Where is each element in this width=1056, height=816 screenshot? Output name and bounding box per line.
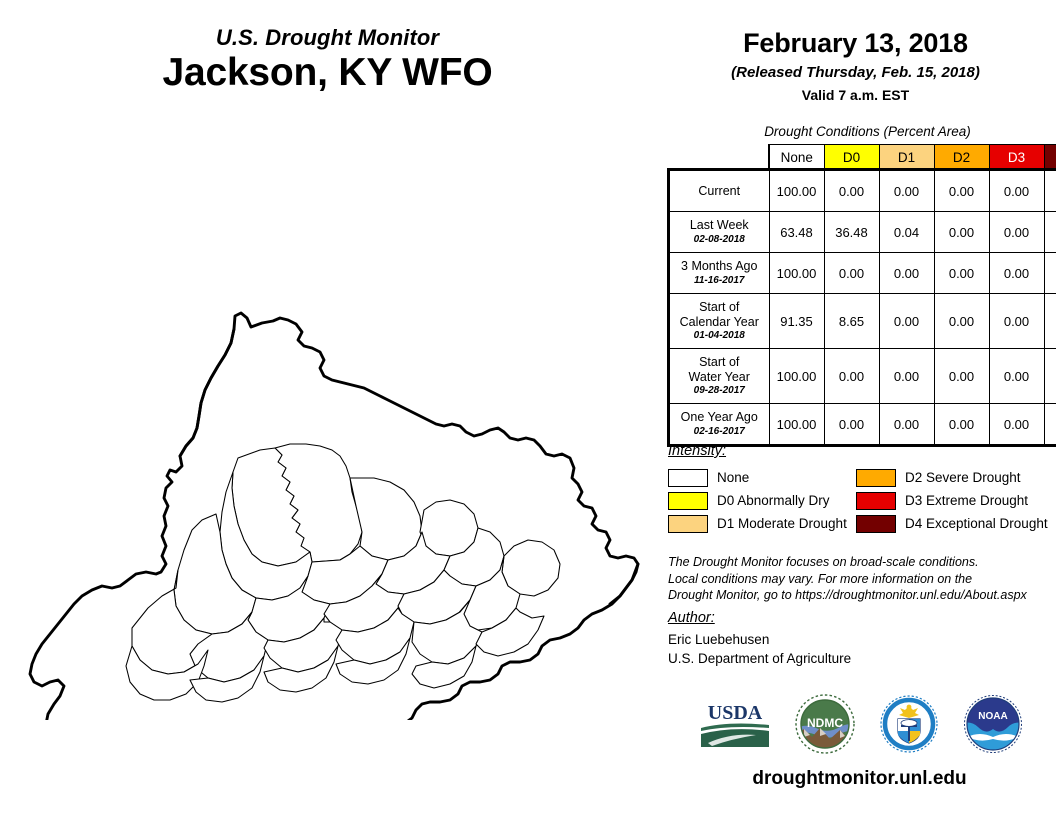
cell-d4: 0.00 bbox=[1044, 170, 1056, 212]
table-row: One Year Ago 02-16-2017 100.00 0.00 0.00… bbox=[669, 404, 1056, 446]
cell-d4: 0.00 bbox=[1044, 349, 1056, 404]
site-url[interactable]: droughtmonitor.unl.edu bbox=[655, 768, 1056, 790]
cell-d0: 0.00 bbox=[824, 170, 879, 212]
table-header-row: None D0 D1 D2 D3 D4 bbox=[669, 145, 1056, 171]
cell-d1: 0.00 bbox=[879, 404, 934, 446]
row-label-one-year-ago: One Year Ago 02-16-2017 bbox=[669, 404, 769, 446]
usda-logo[interactable]: USDA bbox=[698, 698, 772, 755]
logo-row: USDA NDMC bbox=[655, 690, 1056, 762]
table-caption: Drought Conditions (Percent Area) bbox=[655, 124, 1056, 139]
title-block: U.S. Drought Monitor Jackson, KY WFO bbox=[0, 26, 655, 94]
table-corner-cell bbox=[669, 145, 769, 171]
cell-none: 91.35 bbox=[769, 294, 824, 349]
cell-none: 100.00 bbox=[769, 170, 824, 212]
cell-d0: 8.65 bbox=[824, 294, 879, 349]
info-panel: February 13, 2018 (Released Thursday, Fe… bbox=[655, 0, 1056, 816]
column-header-d0: D0 bbox=[824, 145, 879, 171]
cell-d2: 0.00 bbox=[934, 404, 989, 446]
row-label-start-of-calendar-year: Start of Calendar Year 01-04-2018 bbox=[669, 294, 769, 349]
cell-none: 100.00 bbox=[769, 349, 824, 404]
cell-d4: 0.00 bbox=[1044, 253, 1056, 294]
table-row: Start of Water Year 09-28-2017 100.00 0.… bbox=[669, 349, 1056, 404]
legend-item-none: None bbox=[668, 469, 856, 487]
cell-d0: 0.00 bbox=[824, 253, 879, 294]
disclaimer-line-3: Drought Monitor, go to https://droughtmo… bbox=[668, 587, 1053, 604]
legend-item-d2: D2 Severe Drought bbox=[856, 469, 1048, 487]
cell-d0: 0.00 bbox=[824, 349, 879, 404]
cell-d2: 0.00 bbox=[934, 212, 989, 253]
cell-d3: 0.00 bbox=[989, 170, 1044, 212]
swatch-d1-icon bbox=[668, 515, 708, 533]
ndmc-logo[interactable]: NDMC bbox=[794, 693, 856, 760]
table-header: None D0 D1 D2 D3 D4 bbox=[669, 145, 1056, 171]
column-header-d3: D3 bbox=[989, 145, 1044, 171]
cell-d1: 0.00 bbox=[879, 349, 934, 404]
row-label-text-line1: Start of bbox=[699, 355, 739, 369]
cell-d0: 36.48 bbox=[824, 212, 879, 253]
cell-d4: 0.00 bbox=[1044, 294, 1056, 349]
noaa-logo[interactable]: NOAA bbox=[962, 693, 1024, 760]
column-header-d2: D2 bbox=[934, 145, 989, 171]
cell-none: 100.00 bbox=[769, 404, 824, 446]
intensity-legend: Intensity: None D2 Severe Drought D0 Abn… bbox=[668, 443, 1048, 535]
noaa-logo-svg: NOAA bbox=[962, 693, 1024, 755]
cell-none: 100.00 bbox=[769, 253, 824, 294]
cell-d2: 0.00 bbox=[934, 349, 989, 404]
drought-conditions-table: None D0 D1 D2 D3 D4 Current 100.00 0.00 … bbox=[668, 144, 1056, 446]
row-label-date: 02-08-2018 bbox=[673, 234, 766, 246]
ndmc-logo-svg: NDMC bbox=[794, 693, 856, 755]
cell-d2: 0.00 bbox=[934, 253, 989, 294]
legend-item-d4: D4 Exceptional Drought bbox=[856, 515, 1048, 533]
disclaimer-text: The Drought Monitor focuses on broad-sca… bbox=[668, 554, 1053, 604]
table-row: Start of Calendar Year 01-04-2018 91.35 … bbox=[669, 294, 1056, 349]
cell-d1: 0.00 bbox=[879, 253, 934, 294]
row-label-text-line2: Water Year bbox=[689, 370, 750, 384]
row-label-text: Current bbox=[698, 184, 740, 198]
cell-d1: 0.04 bbox=[879, 212, 934, 253]
swatch-none-icon bbox=[668, 469, 708, 487]
valid-time: Valid 7 a.m. EST bbox=[655, 87, 1056, 103]
cell-d3: 0.00 bbox=[989, 404, 1044, 446]
table-row: Last Week 02-08-2018 63.48 36.48 0.04 0.… bbox=[669, 212, 1056, 253]
cell-d2: 0.00 bbox=[934, 294, 989, 349]
intensity-legend-grid: None D2 Severe Drought D0 Abnormally Dry… bbox=[668, 466, 1048, 535]
author-affiliation: U.S. Department of Agriculture bbox=[668, 649, 1053, 668]
usda-logo-text: USDA bbox=[707, 702, 762, 724]
column-header-d1: D1 bbox=[879, 145, 934, 171]
row-label-text: One Year Ago bbox=[681, 410, 758, 424]
row-label-3-months-ago: 3 Months Ago 11-16-2017 bbox=[669, 253, 769, 294]
doc-seal-logo[interactable] bbox=[878, 693, 940, 760]
legend-label-none: None bbox=[717, 470, 749, 485]
legend-label-d2: D2 Severe Drought bbox=[905, 470, 1021, 485]
report-date: February 13, 2018 bbox=[655, 28, 1056, 59]
row-label-text-line1: Start of bbox=[699, 300, 739, 314]
row-label-date: 01-04-2018 bbox=[673, 330, 766, 342]
cell-d3: 0.00 bbox=[989, 212, 1044, 253]
doc-seal-logo-svg bbox=[878, 693, 940, 755]
row-label-date: 09-28-2017 bbox=[673, 385, 766, 397]
author-title: Author: bbox=[668, 610, 1053, 626]
release-date: (Released Thursday, Feb. 15, 2018) bbox=[655, 64, 1056, 81]
legend-label-d0: D0 Abnormally Dry bbox=[717, 493, 830, 508]
ndmc-logo-text: NDMC bbox=[807, 716, 843, 730]
map-svg bbox=[20, 210, 640, 720]
row-label-text-line2: Calendar Year bbox=[680, 315, 759, 329]
row-label-text: 3 Months Ago bbox=[681, 259, 757, 273]
map-panel: U.S. Drought Monitor Jackson, KY WFO bbox=[0, 0, 655, 816]
cell-d1: 0.00 bbox=[879, 170, 934, 212]
cell-d3: 0.00 bbox=[989, 253, 1044, 294]
row-label-text: Last Week bbox=[690, 218, 749, 232]
swatch-d3-icon bbox=[856, 492, 896, 510]
legend-item-d3: D3 Extreme Drought bbox=[856, 492, 1048, 510]
drought-map[interactable] bbox=[20, 210, 640, 720]
disclaimer-line-2: Local conditions may vary. For more info… bbox=[668, 571, 1053, 588]
swatch-d2-icon bbox=[856, 469, 896, 487]
row-label-date: 02-16-2017 bbox=[673, 426, 766, 438]
cell-d4: 0.00 bbox=[1044, 212, 1056, 253]
date-block: February 13, 2018 (Released Thursday, Fe… bbox=[655, 28, 1056, 103]
legend-label-d1: D1 Moderate Drought bbox=[717, 516, 847, 531]
cell-d4: 0.00 bbox=[1044, 404, 1056, 446]
organization-title: U.S. Drought Monitor bbox=[0, 26, 655, 49]
legend-item-d1: D1 Moderate Drought bbox=[668, 515, 856, 533]
cell-d1: 0.00 bbox=[879, 294, 934, 349]
column-header-none: None bbox=[769, 145, 824, 171]
intensity-legend-title: Intensity: bbox=[668, 443, 1048, 459]
swatch-d4-icon bbox=[856, 515, 896, 533]
cell-d3: 0.00 bbox=[989, 349, 1044, 404]
cell-d0: 0.00 bbox=[824, 404, 879, 446]
cell-d3: 0.00 bbox=[989, 294, 1044, 349]
legend-label-d3: D3 Extreme Drought bbox=[905, 493, 1028, 508]
page-title: Jackson, KY WFO bbox=[0, 52, 655, 94]
swatch-d0-icon bbox=[668, 492, 708, 510]
column-header-d4: D4 bbox=[1044, 145, 1056, 171]
table-row: Current 100.00 0.00 0.00 0.00 0.00 0.00 bbox=[669, 170, 1056, 212]
table-body: Current 100.00 0.00 0.00 0.00 0.00 0.00 … bbox=[669, 170, 1056, 445]
row-label-start-of-water-year: Start of Water Year 09-28-2017 bbox=[669, 349, 769, 404]
author-name: Eric Luebehusen bbox=[668, 630, 1053, 649]
legend-item-d0: D0 Abnormally Dry bbox=[668, 492, 856, 510]
usda-logo-svg: USDA bbox=[698, 698, 772, 750]
row-label-current: Current bbox=[669, 170, 769, 212]
row-label-date: 11-16-2017 bbox=[673, 275, 766, 287]
author-section: Author: Eric Luebehusen U.S. Department … bbox=[668, 610, 1053, 668]
disclaimer-line-1: The Drought Monitor focuses on broad-sca… bbox=[668, 554, 1053, 571]
cell-none: 63.48 bbox=[769, 212, 824, 253]
cell-d2: 0.00 bbox=[934, 170, 989, 212]
noaa-logo-text: NOAA bbox=[978, 711, 1007, 722]
legend-label-d4: D4 Exceptional Drought bbox=[905, 516, 1048, 531]
table-row: 3 Months Ago 11-16-2017 100.00 0.00 0.00… bbox=[669, 253, 1056, 294]
row-label-last-week: Last Week 02-08-2018 bbox=[669, 212, 769, 253]
